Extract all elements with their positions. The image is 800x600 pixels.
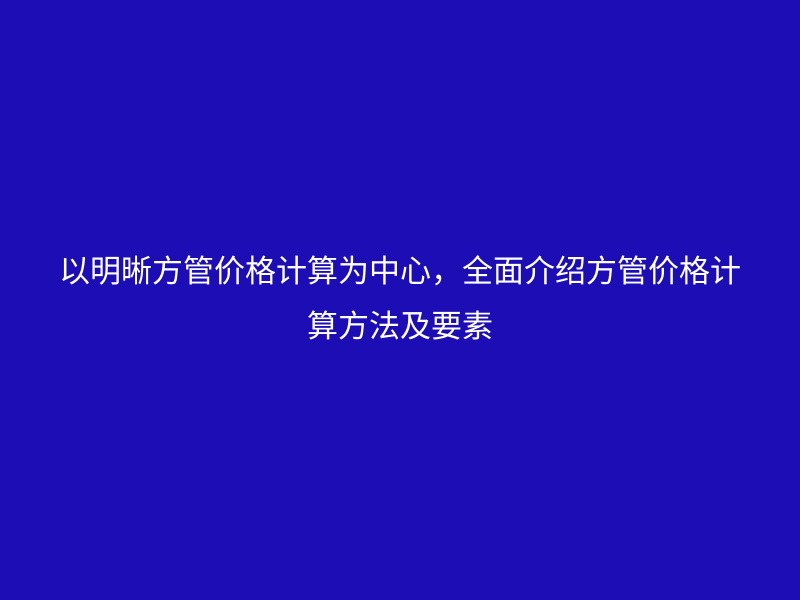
title-block: 以明晰方管价格计算为中心，全面介绍方管价格计算方法及要素 — [50, 245, 750, 355]
slide-canvas: 以明晰方管价格计算为中心，全面介绍方管价格计算方法及要素 — [0, 0, 800, 600]
page-title: 以明晰方管价格计算为中心，全面介绍方管价格计算方法及要素 — [50, 245, 750, 355]
